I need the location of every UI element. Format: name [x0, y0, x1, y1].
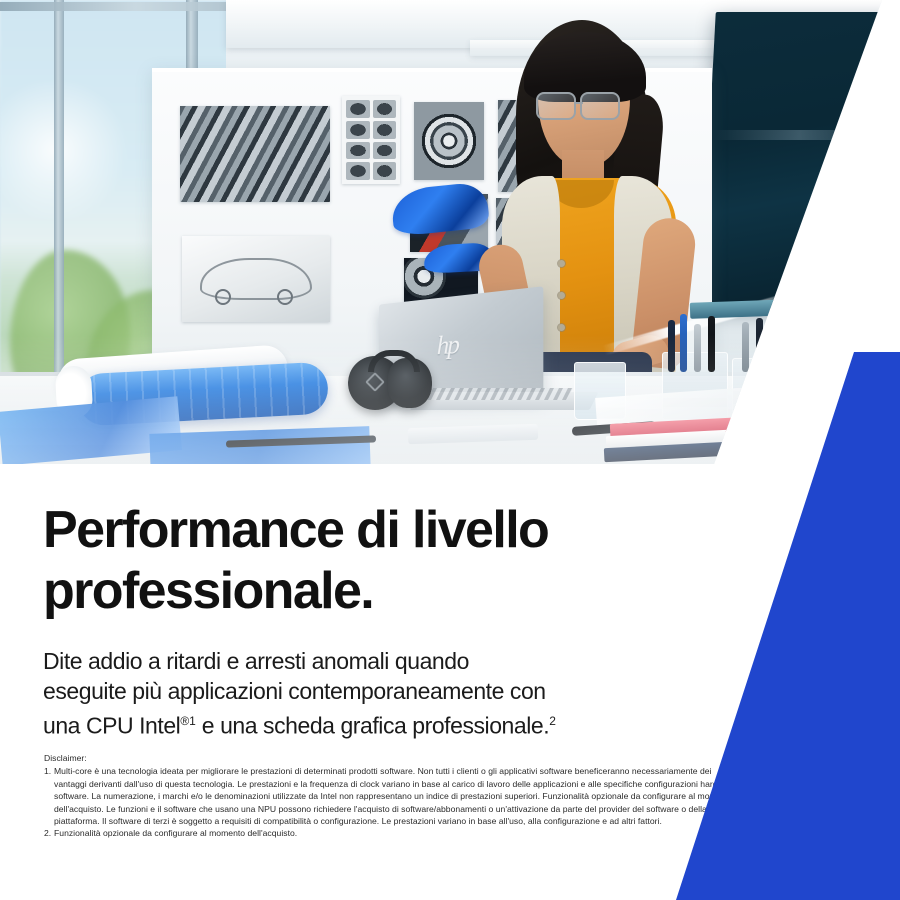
vest-button	[558, 292, 565, 299]
hero-scene: hp	[0, 0, 900, 464]
footnote-ref-1: ®1	[180, 714, 196, 728]
hp-laptop-keyboard	[427, 388, 573, 400]
window-light-glow	[0, 80, 130, 220]
footnote-ref-2: 2	[549, 714, 556, 728]
pen	[694, 324, 701, 372]
subheadline-line-3a: una CPU Intel	[43, 713, 180, 739]
car-wheel	[215, 289, 231, 305]
pen	[668, 320, 675, 372]
sketch-card-chassis	[180, 106, 330, 202]
disclaimer-item-text: Multi-core è una tecnologia ideata per m…	[54, 766, 743, 826]
disclaimer-item-text: Funzionalità opzionale da configurare al…	[54, 828, 297, 838]
pen	[708, 316, 715, 372]
disclaimer-item: 1. Multi-core è una tecnologia ideata pe…	[44, 765, 744, 827]
swatch	[373, 142, 397, 160]
sketch-card-concept-car	[182, 236, 330, 322]
disclaimer-block: Disclaimer: 1. Multi-core è una tecnolog…	[44, 752, 744, 840]
vest-button	[558, 260, 565, 267]
sketch-card-swatches	[342, 96, 400, 184]
hero-image: hp	[0, 0, 900, 464]
page-title: Performance di livello professionale.	[43, 500, 663, 622]
disclaimer-title: Disclaimer:	[44, 752, 744, 764]
glasses-bridge	[575, 102, 583, 104]
subheadline-line-1: Dite addio a ritardi e arresti anomali q…	[43, 648, 469, 674]
swatch	[346, 121, 370, 139]
marketing-page: hp	[0, 0, 900, 900]
pen	[680, 314, 687, 372]
glasses-icon	[580, 92, 620, 120]
glasses-icon	[536, 92, 576, 120]
monitor-sheen	[709, 130, 890, 140]
swatch	[346, 162, 370, 180]
content-area: Performance di livello professionale. Di…	[0, 464, 900, 900]
subheadline-line-3b: e una scheda grafica professionale.	[196, 713, 549, 739]
swatch	[373, 100, 397, 118]
car-wheel	[277, 289, 293, 305]
swatch	[373, 162, 397, 180]
disclaimer-list: 1. Multi-core è una tecnologia ideata pe…	[44, 765, 744, 839]
window-mullion	[54, 0, 64, 420]
wall-monitor	[700, 12, 896, 308]
pen	[756, 318, 763, 372]
disclaimer-item: 2. Funzionalità opzionale da configurare…	[44, 827, 744, 839]
swatch	[346, 142, 370, 160]
disclaimer-item-number: 2.	[44, 827, 51, 839]
disclaimer-item-number: 1.	[44, 765, 51, 777]
swatch	[346, 100, 370, 118]
vest-button	[558, 324, 565, 331]
subheadline: Dite addio a ritardi e arresti anomali q…	[43, 646, 643, 741]
pen	[742, 322, 749, 372]
subheadline-line-2: eseguite più applicazioni contemporaneam…	[43, 678, 546, 704]
swatch	[373, 121, 397, 139]
hp-logo: hp	[437, 330, 458, 361]
